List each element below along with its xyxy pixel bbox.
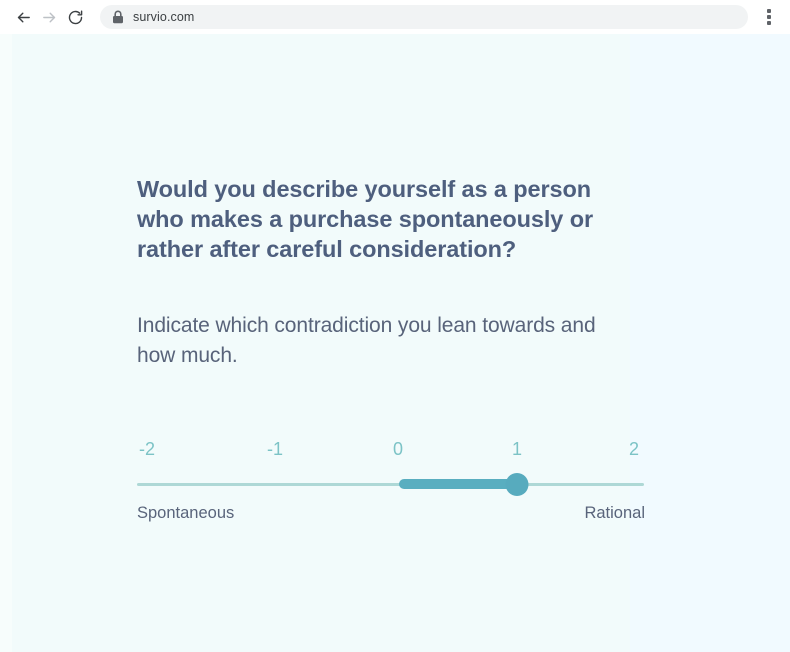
slider-fill	[399, 479, 517, 489]
question-instruction: Indicate which contradiction you lean to…	[137, 311, 597, 371]
slider-tick-0: 0	[393, 439, 403, 460]
browser-toolbar: survio.com	[0, 0, 790, 34]
question-block: Would you describe yourself as a person …	[137, 174, 647, 371]
slider-tick-2: 2	[629, 439, 639, 460]
slider-track-row[interactable]	[137, 470, 645, 500]
three-dot-menu-icon	[767, 9, 771, 13]
browser-menu-button[interactable]	[758, 4, 780, 30]
reload-icon	[67, 9, 84, 26]
slider-endpoint-labels: Spontaneous Rational	[137, 504, 645, 528]
page-left-edge	[0, 34, 12, 652]
reload-button[interactable]	[62, 4, 88, 30]
page-right-edge	[630, 34, 790, 652]
slider-tick--1: -1	[267, 439, 283, 460]
back-arrow-icon	[15, 9, 32, 26]
forward-arrow-icon	[41, 9, 58, 26]
rating-slider[interactable]: -2 -1 0 1 2 Spontaneous Rational	[137, 439, 645, 528]
survey-page: Would you describe yourself as a person …	[0, 34, 790, 652]
slider-thumb[interactable]	[506, 473, 529, 496]
slider-tick-1: 1	[512, 439, 522, 460]
lock-icon	[112, 10, 124, 24]
three-dot-menu-icon-dot2	[767, 15, 771, 19]
back-button[interactable]	[10, 4, 36, 30]
address-bar[interactable]: survio.com	[100, 5, 748, 29]
slider-scale-labels: -2 -1 0 1 2	[137, 439, 645, 465]
forward-button	[36, 4, 62, 30]
url-text: survio.com	[133, 10, 194, 24]
three-dot-menu-icon-dot3	[767, 21, 771, 25]
slider-tick--2: -2	[139, 439, 155, 460]
slider-left-label: Spontaneous	[137, 504, 234, 523]
slider-right-label: Rational	[584, 504, 645, 523]
slider-track[interactable]	[137, 483, 644, 486]
question-title: Would you describe yourself as a person …	[137, 174, 637, 264]
